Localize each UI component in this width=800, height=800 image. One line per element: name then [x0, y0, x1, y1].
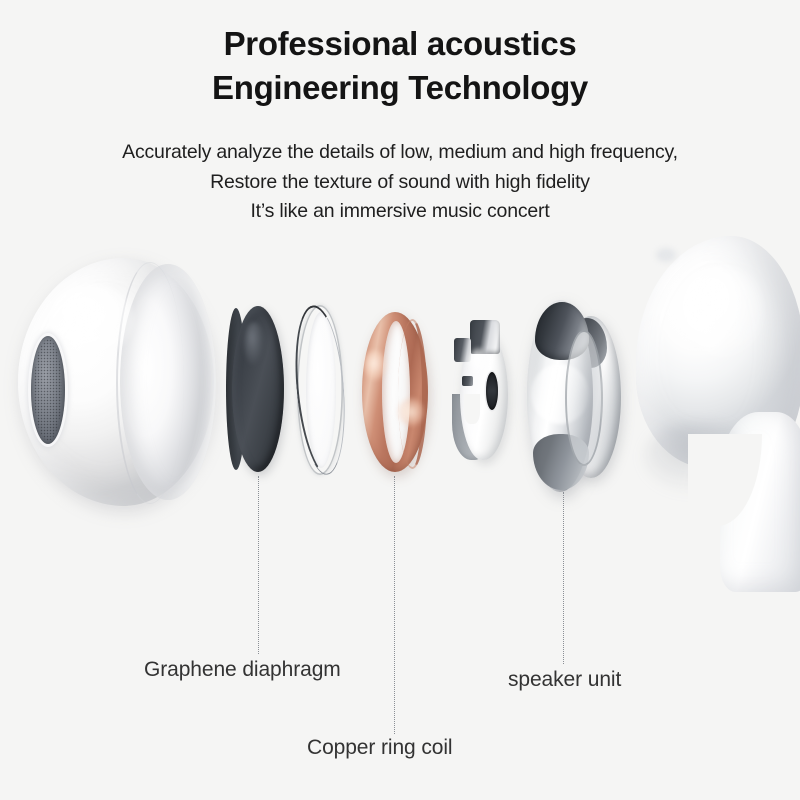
- exploded-diagram: Graphene diaphragm Copper ring coil spea…: [0, 0, 800, 800]
- earphone-body-component: [636, 236, 800, 592]
- callout-label-speaker-unit: speaker unit: [508, 668, 621, 692]
- leader-line-graphene-diaphragm: [258, 476, 259, 654]
- copper-ring-inner-edge: [398, 319, 427, 469]
- diaphragm-highlight: [244, 322, 264, 366]
- callout-label-copper-ring-coil: Copper ring coil: [307, 736, 452, 760]
- speaker-unit-component: [527, 300, 623, 492]
- earphone-body-specular: [656, 248, 676, 262]
- earphone-body-highlight: [676, 266, 762, 358]
- silver-ring-component: [297, 305, 343, 475]
- copper-ring-highlight-mid: [398, 398, 424, 426]
- clip-notch: [462, 376, 473, 386]
- clip-foot-gap: [464, 394, 480, 424]
- ear-tip-mesh-grille: [31, 336, 65, 444]
- copper-ring-highlight-top: [364, 350, 386, 380]
- copper-ring-coil-component: [362, 312, 428, 472]
- ear-tip-component: [18, 258, 214, 506]
- leader-line-copper-ring-coil: [394, 476, 395, 734]
- clip-highlight: [468, 348, 490, 378]
- graphene-diaphragm-component: [232, 306, 284, 472]
- ear-tip-highlight: [48, 284, 134, 356]
- product-infographic: Professional acoustics Engineering Techn…: [0, 0, 800, 800]
- callout-label-graphene-diaphragm: Graphene diaphragm: [144, 658, 341, 682]
- silver-ring-upper-arc: [288, 303, 356, 481]
- metal-clip-component: [452, 322, 520, 468]
- clip-slot: [486, 372, 498, 410]
- ear-tip-rim-edge: [116, 262, 184, 504]
- leader-line-speaker-unit: [563, 492, 564, 664]
- speaker-inner-ring: [565, 330, 603, 466]
